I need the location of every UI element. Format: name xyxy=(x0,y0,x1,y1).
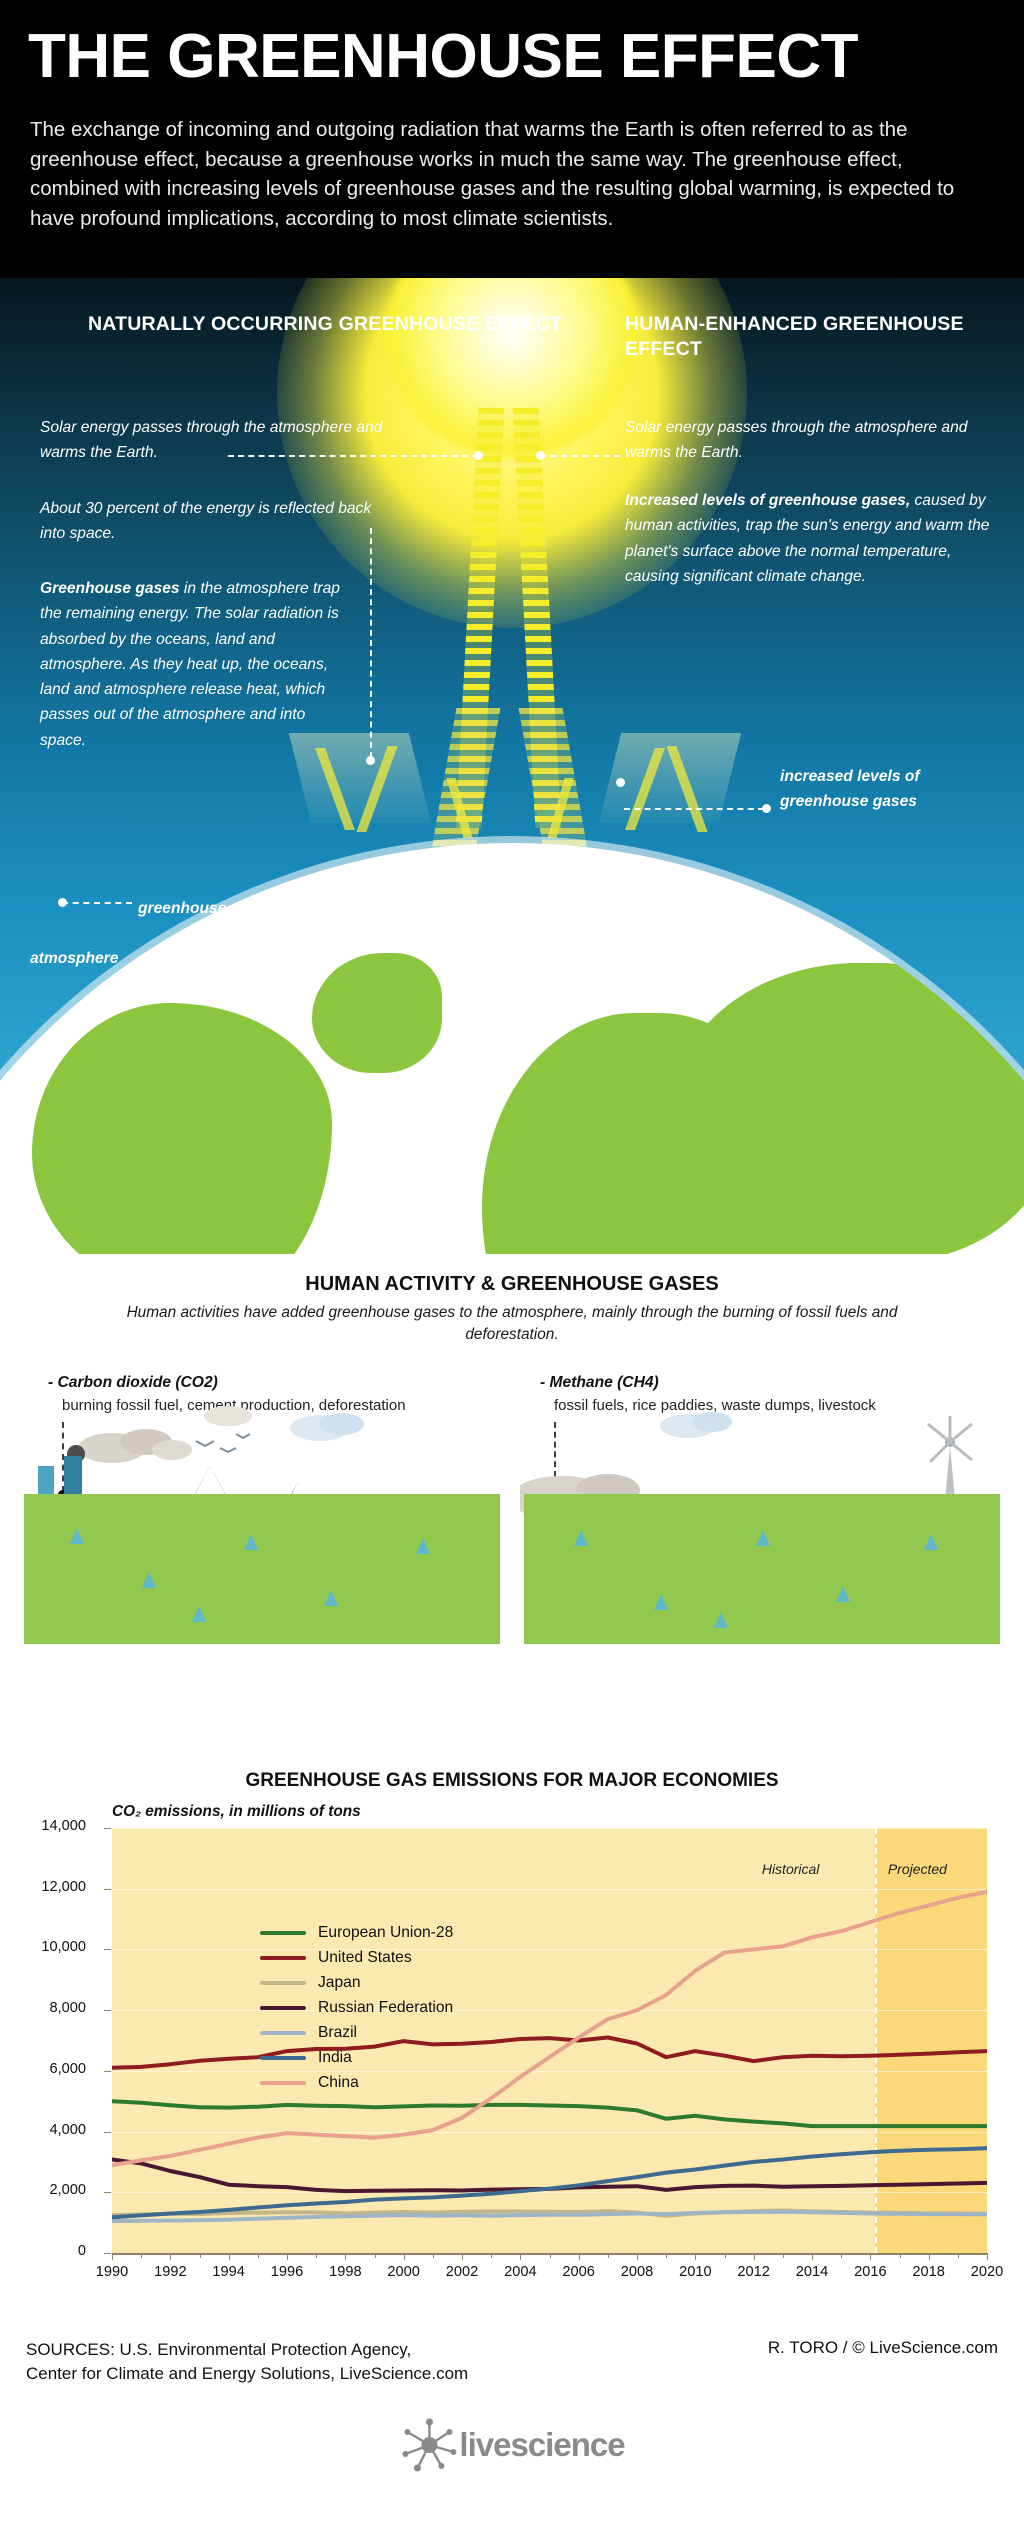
field-left xyxy=(24,1494,500,1644)
legend-item[interactable]: European Union-28 xyxy=(260,1920,453,1945)
x-axis-tick-label: 2016 xyxy=(854,2264,886,2280)
x-axis-minor-tick xyxy=(725,2253,726,2258)
page-title: THE GREENHOUSE EFFECT xyxy=(28,26,998,88)
x-axis-tick-label: 2002 xyxy=(446,2264,478,2280)
x-axis-tick-label: 2012 xyxy=(737,2264,769,2280)
leader-line-left-2 xyxy=(370,528,372,758)
human-activity-subtitle: Human activities have added greenhouse g… xyxy=(112,1302,912,1347)
legend-item[interactable]: Russian Federation xyxy=(260,1995,453,2020)
x-axis-tick-label: 1994 xyxy=(212,2264,244,2280)
infographic-page: THE GREENHOUSE EFFECT The exchange of in… xyxy=(0,0,1024,2528)
chart-line-china xyxy=(112,1892,987,2165)
x-axis-minor-tick xyxy=(608,2253,609,2258)
heading-human-enhanced-effect: HUMAN-ENHANCED GREENHOUSE EFFECT xyxy=(625,312,1024,362)
y-axis-tick xyxy=(104,2192,111,2193)
y-axis-tick-label: 6,000 xyxy=(49,2061,86,2077)
header-banner: THE GREENHOUSE EFFECT The exchange of in… xyxy=(0,0,1024,278)
x-axis-tick-label: 2006 xyxy=(562,2264,594,2280)
note-right-increased-levels: Increased levels of greenhouse gases, ca… xyxy=(625,488,1005,589)
y-axis-tick-label: 2,000 xyxy=(49,2182,86,2198)
x-axis-tick-label: 2018 xyxy=(912,2264,944,2280)
y-axis-tick xyxy=(104,2132,111,2133)
chart-series-svg xyxy=(112,1828,987,2253)
y-axis-tick xyxy=(104,2010,111,2011)
legend-swatch xyxy=(260,2006,306,2010)
sources-text: SOURCES: U.S. Environmental Protection A… xyxy=(26,2338,468,2386)
x-axis-tick xyxy=(754,2253,755,2260)
legend-swatch xyxy=(260,1931,306,1935)
x-axis-tick-label: 1996 xyxy=(271,2264,303,2280)
x-axis-tick-label: 1998 xyxy=(329,2264,361,2280)
chart-title: GREENHOUSE GAS EMISSIONS FOR MAJOR ECONO… xyxy=(0,1770,1024,1792)
footer: SOURCES: U.S. Environmental Protection A… xyxy=(0,2320,1024,2528)
x-axis-tick xyxy=(229,2253,230,2260)
landmass-asia xyxy=(672,963,1024,1254)
y-axis-tick xyxy=(104,1949,111,1950)
field-right xyxy=(524,1494,1000,1644)
note-right-solar-energy: Solar energy passes through the atmosphe… xyxy=(625,415,1015,466)
y-axis-tick-label: 0 xyxy=(78,2243,86,2259)
sources-line-1: SOURCES: U.S. Environmental Protection A… xyxy=(26,2338,468,2362)
x-axis-tick-label: 2010 xyxy=(679,2264,711,2280)
x-axis-minor-tick xyxy=(958,2253,959,2258)
chart-line-russian-federation xyxy=(112,2160,987,2192)
y-axis-tick-label: 14,000 xyxy=(41,1818,86,1834)
x-axis-tick-label: 2014 xyxy=(796,2264,828,2280)
x-axis-tick xyxy=(579,2253,580,2260)
x-axis-tick xyxy=(637,2253,638,2260)
legend-item[interactable]: Brazil xyxy=(260,2020,453,2045)
leader-dot-right-3 xyxy=(762,804,771,813)
legend-label: China xyxy=(318,2074,359,2092)
legend-label: Japan xyxy=(318,1974,361,1992)
leader-dot-right-2 xyxy=(616,778,625,787)
x-axis-tick xyxy=(929,2253,930,2260)
landmass-greenland xyxy=(312,953,442,1073)
x-axis-minor-tick xyxy=(900,2253,901,2258)
y-axis-tick-label: 12,000 xyxy=(41,1879,86,1895)
legend-swatch xyxy=(260,1956,306,1960)
x-axis-minor-tick xyxy=(666,2253,667,2258)
chart-y-axis: 02,0004,0006,0008,00010,00012,00014,000 xyxy=(0,1828,100,2253)
x-axis-tick xyxy=(987,2253,988,2260)
y-axis-tick xyxy=(104,2253,111,2254)
y-axis-tick xyxy=(104,2071,111,2072)
legend-item[interactable]: India xyxy=(260,2045,453,2070)
livescience-logo[interactable]: livescience xyxy=(399,2418,624,2472)
x-axis-minor-tick xyxy=(258,2253,259,2258)
x-axis-minor-tick xyxy=(491,2253,492,2258)
note-left-solar-energy: Solar energy passes through the atmosphe… xyxy=(40,415,420,466)
x-axis-minor-tick xyxy=(375,2253,376,2258)
human-activity-section: HUMAN ACTIVITY & GREENHOUSE GASES Human … xyxy=(0,1254,1024,1774)
annotation-projected: Projected xyxy=(888,1861,947,1877)
intro-paragraph: The exchange of incoming and outgoing ra… xyxy=(30,115,980,234)
x-axis-minor-tick xyxy=(841,2253,842,2258)
chart-line-united-states xyxy=(112,2038,987,2068)
chart-line-european-union-28 xyxy=(112,2101,987,2126)
landmass-north-america xyxy=(32,1003,332,1254)
annotation-historical: Historical xyxy=(762,1861,820,1877)
x-axis-tick xyxy=(345,2253,346,2260)
legend-label: European Union-28 xyxy=(318,1924,453,1942)
leader-dot-left-2 xyxy=(366,756,375,765)
legend-swatch xyxy=(260,2031,306,2035)
leader-dot-right-1 xyxy=(536,451,545,460)
legend-item[interactable]: China xyxy=(260,2070,453,2095)
legend-label: Russian Federation xyxy=(318,1999,453,2017)
legend-label: Brazil xyxy=(318,2024,357,2042)
x-axis-minor-tick xyxy=(433,2253,434,2258)
legend-label: United States xyxy=(318,1949,412,1967)
x-axis-minor-tick xyxy=(550,2253,551,2258)
x-axis-tick xyxy=(462,2253,463,2260)
credit-text: R. TORO / © LiveScience.com xyxy=(768,2338,998,2358)
x-axis-tick-label: 2004 xyxy=(504,2264,536,2280)
x-axis-tick xyxy=(695,2253,696,2260)
livescience-logo-text: livescience xyxy=(459,2426,624,2464)
x-axis-tick xyxy=(812,2253,813,2260)
heading-natural-effect: NATURALLY OCCURRING GREENHOUSE EFFECT xyxy=(88,312,562,337)
greenhouse-diagram: NATURALLY OCCURRING GREENHOUSE EFFECT HU… xyxy=(0,278,1024,1254)
legend-item[interactable]: Japan xyxy=(260,1970,453,1995)
x-axis-tick xyxy=(170,2253,171,2260)
x-axis-tick xyxy=(870,2253,871,2260)
legend-swatch xyxy=(260,2056,306,2060)
livescience-logo-icon xyxy=(399,2418,459,2472)
x-axis-tick-label: 2000 xyxy=(387,2264,419,2280)
note-left-greenhouse-gases: Greenhouse gases in the atmosphere trap … xyxy=(40,576,340,753)
x-axis-tick xyxy=(404,2253,405,2260)
note-left-reflected: About 30 percent of the energy is reflec… xyxy=(40,496,400,547)
y-axis-tick-label: 10,000 xyxy=(41,1939,86,1955)
y-axis-tick xyxy=(104,1828,111,1829)
leader-line-right-1 xyxy=(540,455,620,457)
note-right-increased-levels-callout: increased levels of greenhouse gases xyxy=(780,764,970,815)
x-axis-tick-label: 1992 xyxy=(154,2264,186,2280)
y-axis-tick-label: 4,000 xyxy=(49,2122,86,2138)
leader-line-right-3 xyxy=(624,808,764,810)
leader-dot-left-1 xyxy=(474,451,483,460)
chart-line-india xyxy=(112,2148,987,2217)
y-axis-tick-label: 8,000 xyxy=(49,2000,86,2016)
x-axis-tick xyxy=(287,2253,288,2260)
x-axis-tick-label: 2020 xyxy=(971,2264,1003,2280)
legend-item[interactable]: United States xyxy=(260,1945,453,1970)
x-axis-minor-tick xyxy=(141,2253,142,2258)
chart-subtitle: CO₂ emissions, in millions of tons xyxy=(112,1803,361,1821)
x-axis-tick xyxy=(520,2253,521,2260)
chart-legend: European Union-28United StatesJapanRussi… xyxy=(260,1920,453,2095)
chart-plot-area: European Union-28United StatesJapanRussi… xyxy=(112,1828,987,2253)
human-activity-title: HUMAN ACTIVITY & GREENHOUSE GASES xyxy=(0,1273,1024,1296)
x-axis-tick xyxy=(112,2253,113,2260)
legend-swatch xyxy=(260,2081,306,2085)
x-axis-minor-tick xyxy=(316,2253,317,2258)
emissions-chart-section: GREENHOUSE GAS EMISSIONS FOR MAJOR ECONO… xyxy=(0,1760,1024,2320)
leader-line-gg xyxy=(62,902,132,904)
sources-line-2: Center for Climate and Energy Solutions,… xyxy=(26,2362,468,2386)
x-axis-tick-label: 2008 xyxy=(621,2264,653,2280)
leader-dot-gg xyxy=(58,898,67,907)
legend-label: India xyxy=(318,2049,352,2067)
legend-swatch xyxy=(260,1981,306,1985)
x-axis-minor-tick xyxy=(200,2253,201,2258)
x-axis-tick-label: 1990 xyxy=(96,2264,128,2280)
y-axis-tick xyxy=(104,1889,111,1890)
x-axis-minor-tick xyxy=(783,2253,784,2258)
